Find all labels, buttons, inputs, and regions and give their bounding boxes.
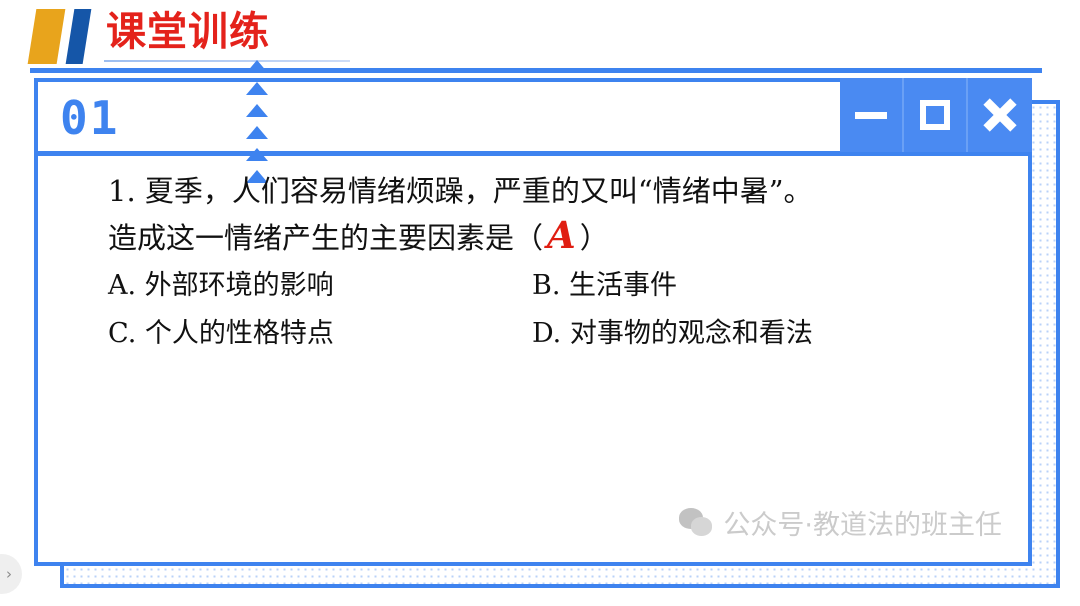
slide-header: 课堂训练 [0,0,1080,78]
decorative-bar-blue [66,9,92,64]
option-d[interactable]: D. 对事物的观念和看法 [532,318,813,350]
page-title: 课堂训练 [106,8,270,56]
chevron-right-icon: › [0,565,12,583]
close-button[interactable] [968,78,1032,152]
question-stem: 造成这一情绪产生的主要因素是（ [108,221,543,255]
header-rule-thin [104,60,350,62]
slide-canvas: 课堂训练 01 [0,0,1080,606]
header-rule-thick [30,68,1042,73]
content-window: 01 1. 夏季，人们容易情绪烦躁，严重的又叫“情绪中 [34,78,1032,566]
window-titlebar: 01 [38,82,1028,156]
minimize-button[interactable] [840,78,904,152]
minimize-icon [855,112,887,119]
question-paren-close: ） [580,221,609,255]
window-number: 01 [60,93,119,143]
maximize-button[interactable] [904,78,968,152]
wechat-icon [679,508,713,538]
decorative-bar-gold [28,9,66,64]
question-line-2: 造成这一情绪产生的主要因素是（A） [108,218,609,255]
answer-mark: A [543,213,580,257]
option-b[interactable]: B. 生活事件 [532,270,677,302]
option-c[interactable]: C. 个人的性格特点 [108,318,334,350]
close-icon [983,98,1017,132]
watermark-text: 公众号·教道法的班主任 [723,503,1002,542]
next-slide-button[interactable]: › [0,554,22,594]
question-body: 1. 夏季，人们容易情绪烦躁，严重的又叫“情绪中暑”。 造成这一情绪产生的主要因… [38,156,1028,562]
watermark: 公众号·教道法的班主任 [679,503,1002,542]
window-controls [840,78,1032,152]
maximize-icon [920,100,950,130]
option-a[interactable]: A. 外部环境的影响 [108,270,334,302]
question-line-1: 1. 夏季，人们容易情绪烦躁，严重的又叫“情绪中暑”。 [108,174,813,208]
